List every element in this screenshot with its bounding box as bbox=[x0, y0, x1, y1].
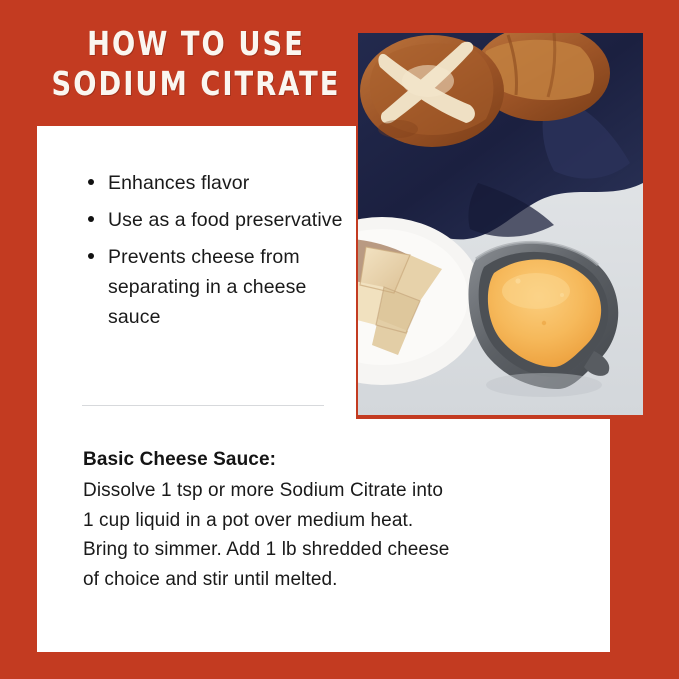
food-photo-illustration bbox=[358, 33, 643, 415]
bullet-dot-icon bbox=[88, 179, 94, 185]
list-item: Use as a food preservative bbox=[88, 205, 343, 235]
recipe-line: Dissolve 1 tsp or more Sodium Citrate in… bbox=[83, 476, 593, 506]
infographic-card: HOW TO USE SODIUM CITRATE Enhances flavo… bbox=[0, 0, 679, 679]
recipe-line: 1 cup liquid in a pot over medium heat. bbox=[83, 506, 593, 536]
food-photo bbox=[358, 33, 643, 415]
list-item-label: Enhances flavor bbox=[108, 172, 249, 194]
page-title-line-1: HOW TO USE bbox=[50, 24, 343, 64]
list-item-label: Prevents cheese from separating in a che… bbox=[108, 246, 306, 328]
recipe-heading: Basic Cheese Sauce: bbox=[83, 445, 593, 474]
recipe-line: of choice and stir until melted. bbox=[83, 565, 593, 595]
recipe-line: Bring to simmer. Add 1 lb shredded chees… bbox=[83, 535, 593, 565]
recipe-block: Basic Cheese Sauce: Dissolve 1 tsp or mo… bbox=[83, 445, 593, 594]
benefits-list: Enhances flavor Use as a food preservati… bbox=[88, 168, 343, 339]
bullet-dot-icon bbox=[88, 253, 94, 259]
page-title: HOW TO USE SODIUM CITRATE bbox=[37, 24, 355, 104]
list-item-label: Use as a food preservative bbox=[108, 209, 343, 231]
list-item: Enhances flavor bbox=[88, 168, 343, 198]
bullet-dot-icon bbox=[88, 216, 94, 222]
list-item: Prevents cheese from separating in a che… bbox=[88, 242, 343, 332]
section-divider bbox=[82, 405, 324, 406]
page-title-line-2: SODIUM CITRATE bbox=[50, 64, 343, 104]
